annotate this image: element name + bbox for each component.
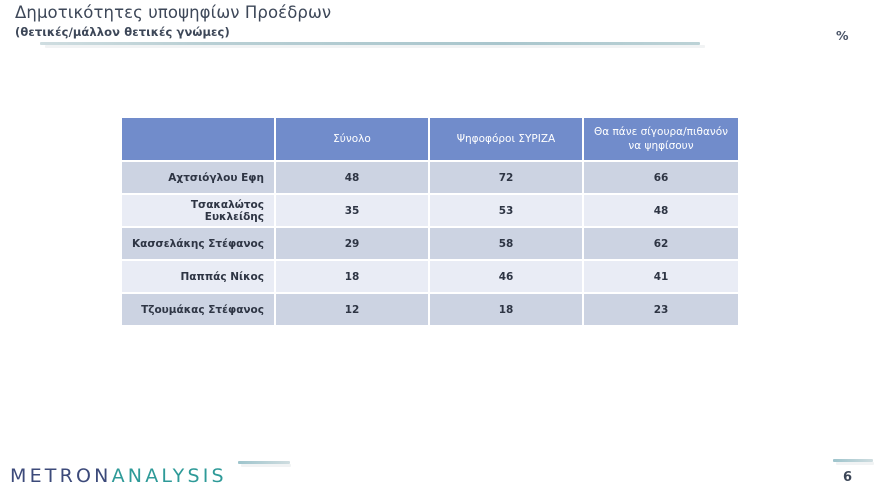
page-title: Δημοτικότητες υποψηφίων Προέδρων [15,3,331,22]
table-row: Παππάς Νίκος 18 46 41 [122,261,738,292]
page-number: 6 [843,470,852,485]
title-rule-shadow [45,45,705,48]
table-header-row: Σύνολο Ψηφοφόροι ΣΥΡΙΖΑ Θα πάνε σίγουρα/… [122,118,738,160]
page-number-rule [833,459,873,462]
value-syriza: 18 [430,294,582,325]
value-syriza: 53 [430,195,582,226]
table-row: Τζουμάκας Στέφανος 12 18 23 [122,294,738,325]
table-header-cell-total: Σύνολο [276,118,428,160]
slide-header: Δημοτικότητες υποψηφίων Προέδρων (θετικέ… [0,0,880,60]
brand-logo-primary: METRON [10,465,112,487]
value-syriza: 72 [430,162,582,193]
title-rule [40,42,700,45]
candidate-name: Αχτσιόγλου Εφη [122,162,274,193]
value-likely: 62 [584,228,738,259]
value-total: 12 [276,294,428,325]
table-row: Κασσελάκης Στέφανος 29 58 62 [122,228,738,259]
value-likely: 66 [584,162,738,193]
value-likely: 41 [584,261,738,292]
value-total: 29 [276,228,428,259]
value-total: 35 [276,195,428,226]
table-header-cell-syriza: Ψηφοφόροι ΣΥΡΙΖΑ [430,118,582,160]
page-subtitle: (θετικές/μάλλον θετικές γνώμες) [15,25,230,39]
value-syriza: 46 [430,261,582,292]
table-row: Τσακαλώτος Ευκλείδης 35 53 48 [122,195,738,226]
brand-logo: METRONANALYSIS [10,465,227,487]
table-header: Σύνολο Ψηφοφόροι ΣΥΡΙΖΑ Θα πάνε σίγουρα/… [122,118,738,160]
table-header-cell-name [122,118,274,160]
percent-unit-label: % [836,28,849,43]
table-row: Αχτσιόγλου Εφη 48 72 66 [122,162,738,193]
footer-rule [238,461,290,464]
table-body: Αχτσιόγλου Εφη 48 72 66 Τσακαλώτος Ευκλε… [122,162,738,325]
brand-logo-secondary: ANALYSIS [112,465,227,487]
candidate-name: Κασσελάκης Στέφανος [122,228,274,259]
value-syriza: 58 [430,228,582,259]
candidate-name: Τσακαλώτος Ευκλείδης [122,195,274,226]
value-likely: 48 [584,195,738,226]
value-total: 18 [276,261,428,292]
footer-rule-shadow [241,464,291,467]
popularity-table: Σύνολο Ψηφοφόροι ΣΥΡΙΖΑ Θα πάνε σίγουρα/… [120,116,740,327]
value-likely: 23 [584,294,738,325]
page-number-rule-shadow [836,462,874,465]
candidate-name: Τζουμάκας Στέφανος [122,294,274,325]
table-header-cell-likely: Θα πάνε σίγουρα/πιθανόν να ψηφίσουν [584,118,738,160]
value-total: 48 [276,162,428,193]
candidate-name: Παππάς Νίκος [122,261,274,292]
